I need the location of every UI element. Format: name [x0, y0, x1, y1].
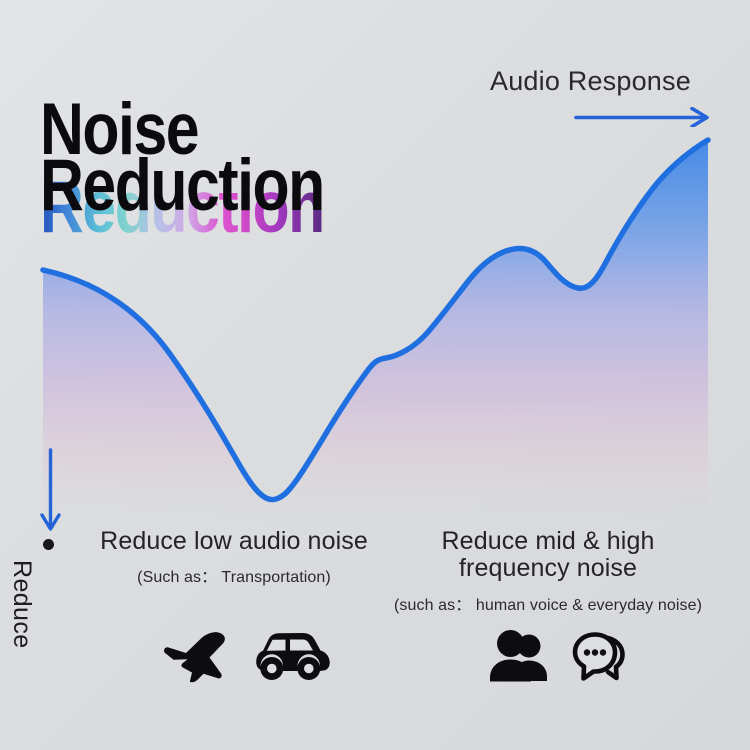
arrow-down-icon: [40, 448, 62, 532]
reduce-axis-label: Reduce: [7, 560, 36, 649]
chat-bubble-icon: [572, 628, 634, 684]
poster-canvas: Reduction Noise Reduction Audio Response…: [0, 0, 750, 750]
headline-line-reduction: Reduction: [40, 152, 324, 221]
audio-response-annotation: Audio Response: [490, 66, 720, 97]
caption-low-noise-title: Reduce low audio noise: [84, 528, 384, 555]
caption-mid-high-noise: Reduce mid & high frequency noise (such …: [378, 528, 718, 615]
caption-mid-high-title-line1: Reduce mid & high: [378, 528, 718, 555]
airplane-icon: [160, 626, 232, 688]
car-icon: [254, 630, 332, 684]
reduce-bullet-icon: [43, 539, 54, 550]
caption-mid-high-title-line2: frequency noise: [378, 555, 718, 582]
audio-response-label: Audio Response: [490, 66, 720, 97]
caption-mid-high-subtitle: (such as： human voice & everyday noise): [378, 591, 718, 615]
people-icon: [488, 629, 550, 683]
icon-group-transportation: [160, 626, 332, 688]
caption-low-noise-subtitle: (Such as： Transportation): [84, 563, 384, 587]
arrow-right-icon: [574, 107, 710, 127]
page-title: Reduction Noise Reduction: [40, 96, 460, 236]
icon-group-voice: [488, 628, 634, 684]
caption-low-noise: Reduce low audio noise (Such as： Transpo…: [84, 528, 384, 587]
